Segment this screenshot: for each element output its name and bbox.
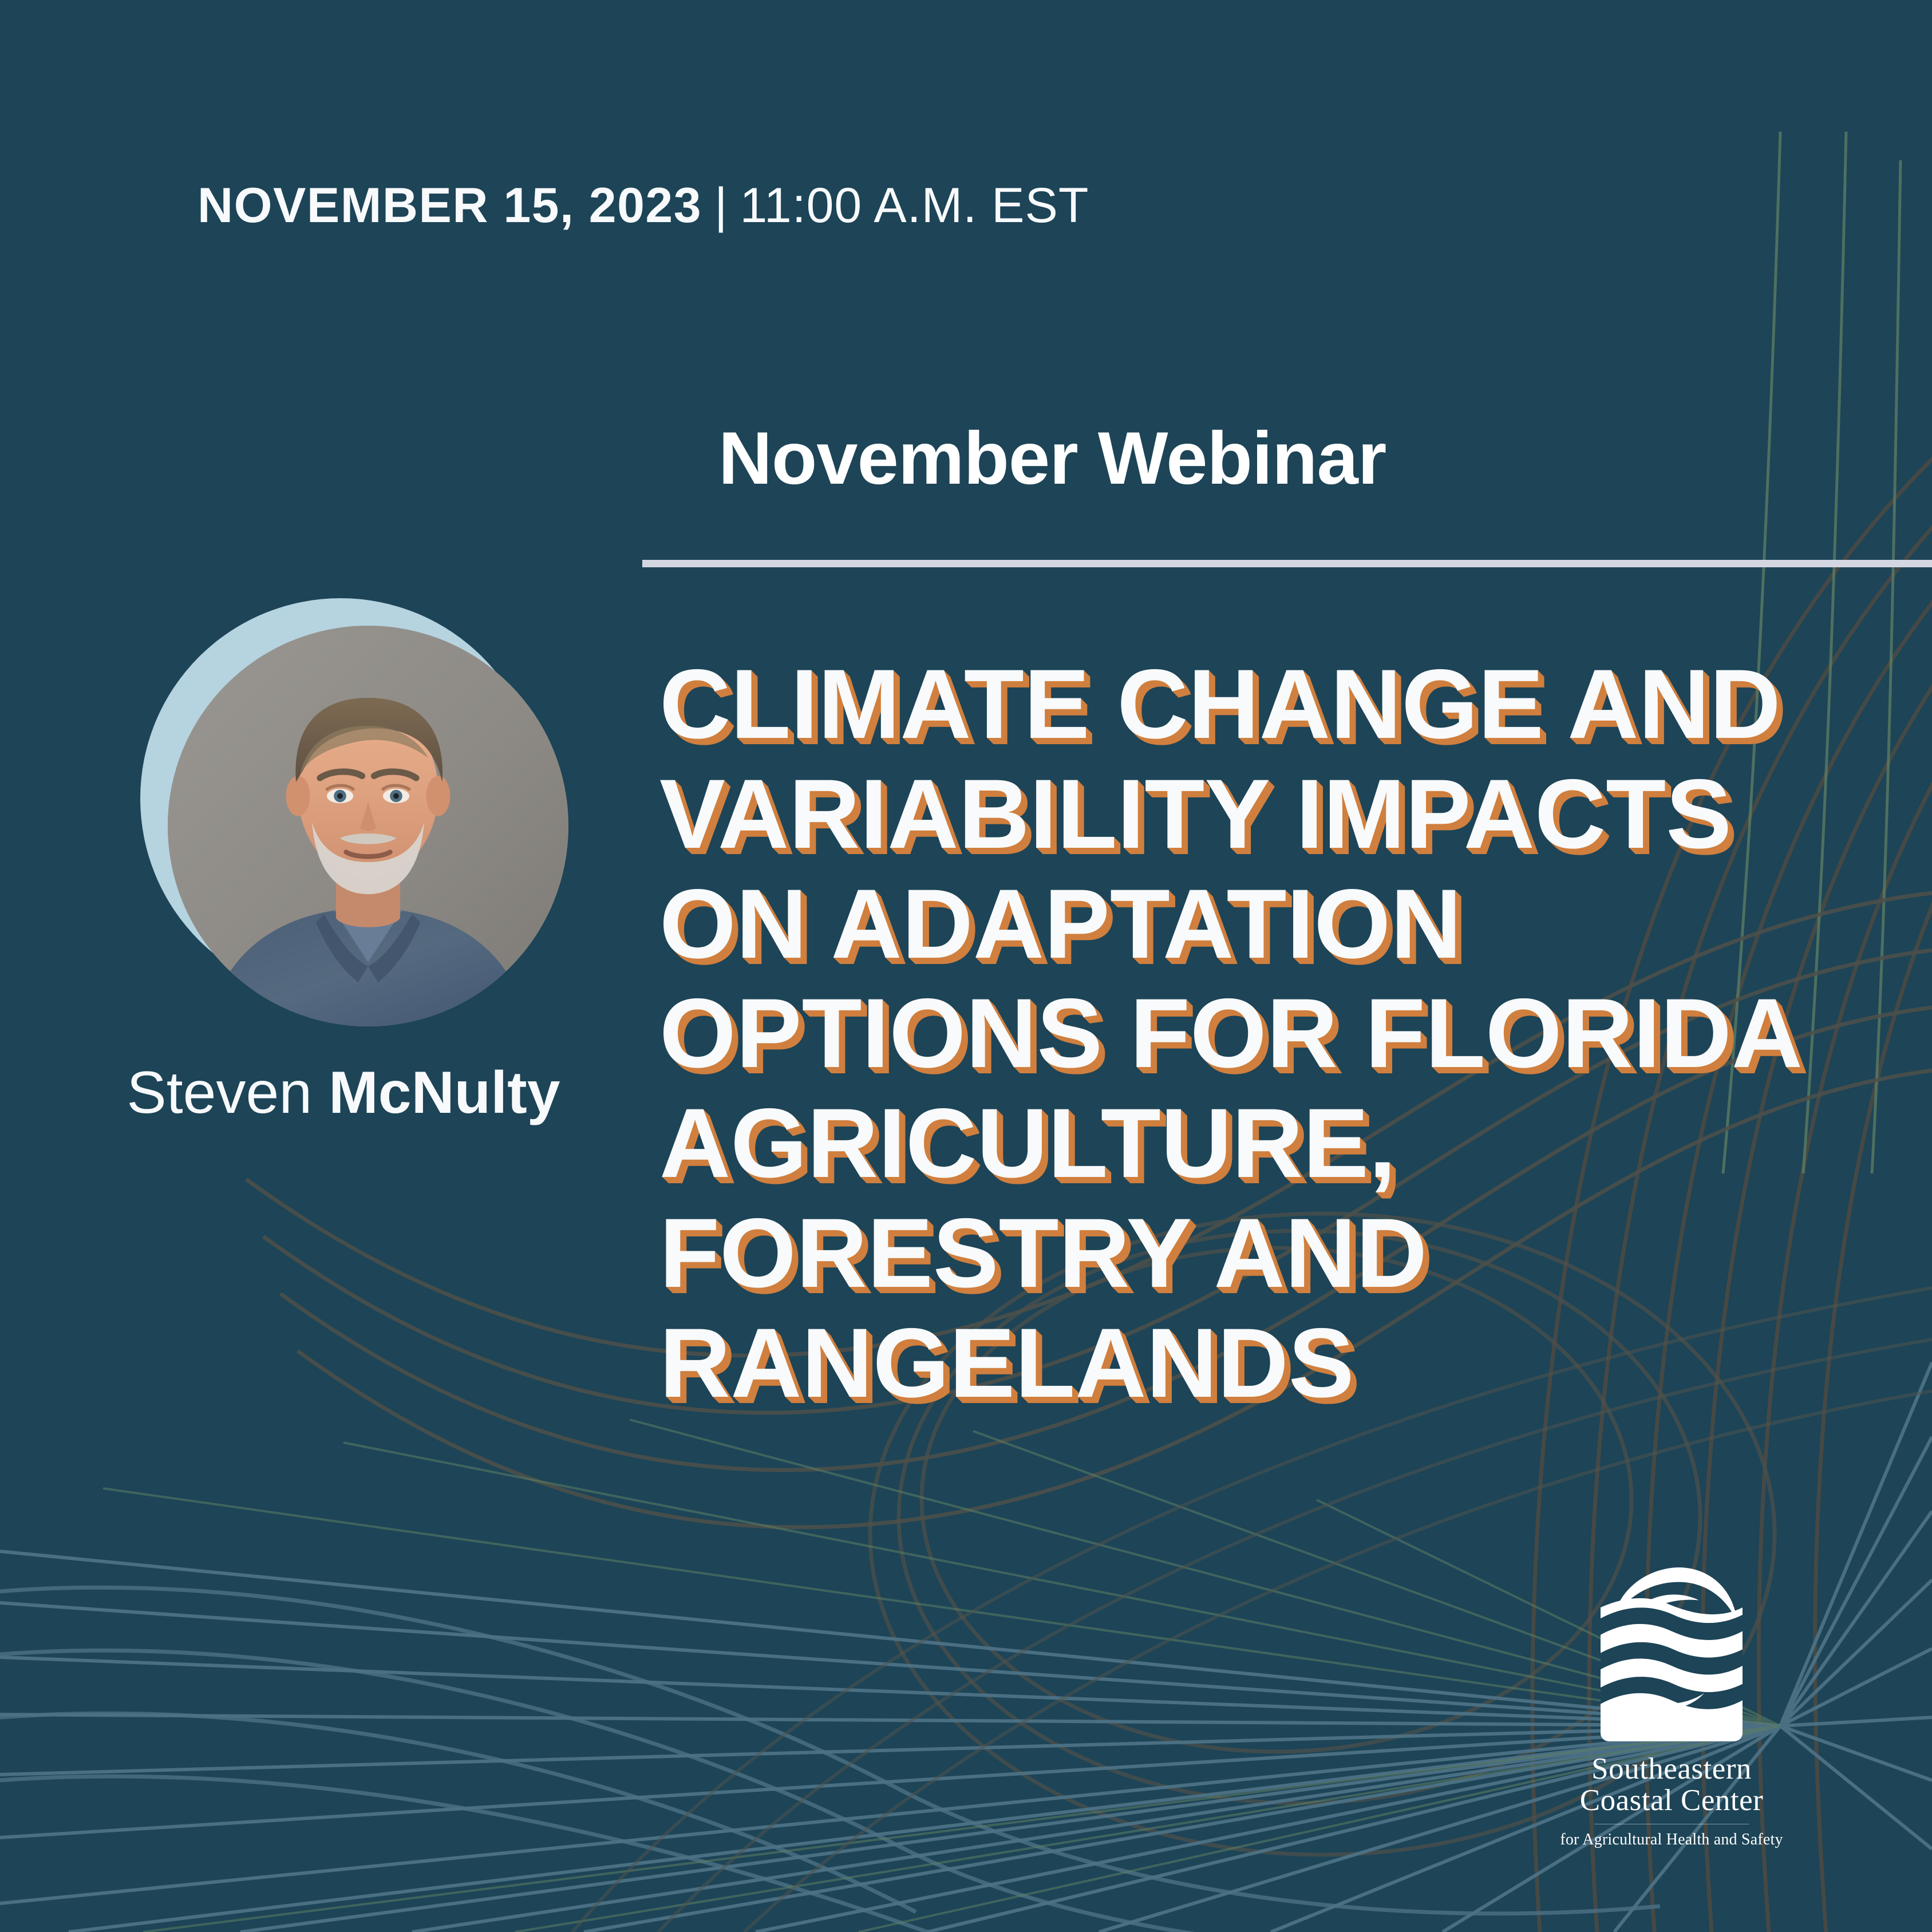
speaker-name: Steven McNulty <box>86 1059 601 1127</box>
organization-logo: Southeastern Coastal Center for Agricult… <box>1548 1566 1795 1849</box>
title-line: ON ADAPTATION <box>659 870 1919 979</box>
title-line: CLIMATE CHANGE AND <box>659 650 1919 760</box>
title-line: RANGELANDS <box>659 1309 1919 1419</box>
event-time: 11:00 A.M. EST <box>740 177 1089 234</box>
title-line: AGRICULTURE, <box>659 1089 1919 1199</box>
coastal-waves-icon <box>1580 1566 1763 1743</box>
logo-name-line1: Southeastern <box>1548 1753 1795 1785</box>
webinar-eyebrow: November Webinar <box>718 415 1386 501</box>
speaker-headshot <box>168 626 568 1026</box>
header-divider <box>642 560 1932 567</box>
webinar-poster: NOVEMBER 15, 2023 | 11:00 A.M. EST Novem… <box>0 0 1932 1932</box>
logo-tagline: for Agricultural Health and Safety <box>1548 1831 1795 1849</box>
event-date: NOVEMBER 15, 2023 <box>197 177 702 234</box>
avatar <box>140 598 575 1033</box>
title-line: OPTIONS FOR FLORIDA <box>659 979 1919 1089</box>
logo-name: Southeastern Coastal Center <box>1548 1753 1795 1816</box>
logo-name-line2: Coastal Center <box>1548 1785 1795 1816</box>
speaker-first-name: Steven <box>127 1060 312 1126</box>
event-date-bar: NOVEMBER 15, 2023 | 11:00 A.M. EST <box>197 177 1089 234</box>
title-line: VARIABILITY IMPACTS <box>659 760 1919 870</box>
page-title: CLIMATE CHANGE AND VARIABILITY IMPACTS O… <box>659 650 1919 1418</box>
logo-divider <box>1594 1824 1749 1824</box>
title-line: FORESTRY AND <box>659 1199 1919 1309</box>
date-separator: | <box>714 177 727 234</box>
speaker-last-name: McNulty <box>329 1060 560 1126</box>
